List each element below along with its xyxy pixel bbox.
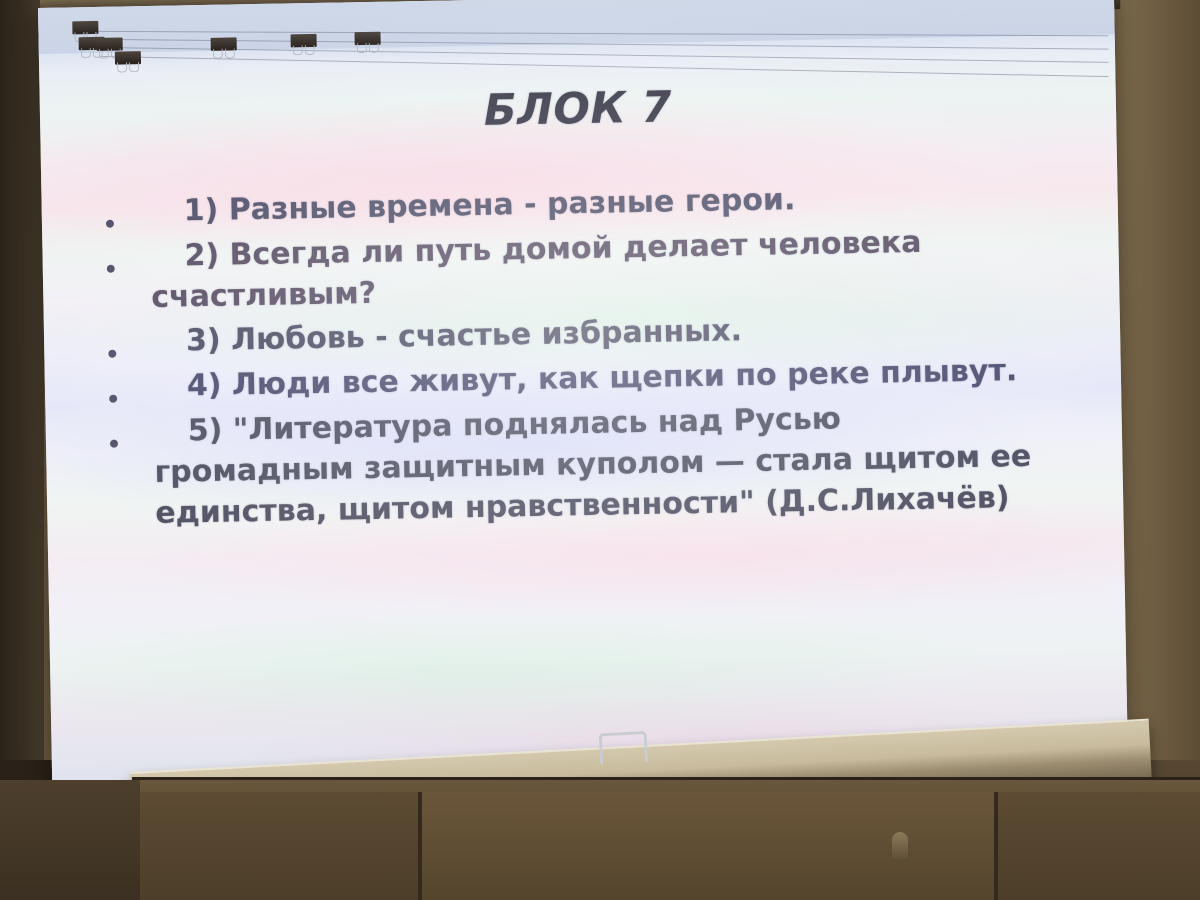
bullet-dot-icon	[106, 237, 151, 277]
bullet-dot-icon	[109, 412, 154, 452]
list-item: 5) "Литература поднялась над Русью грома…	[109, 396, 1033, 535]
cabinet-door[interactable]	[420, 792, 996, 900]
cabinet-door[interactable]	[132, 792, 420, 900]
slide-title: БЛОК 7	[40, 74, 1117, 144]
cabinet-handle-icon[interactable]	[892, 832, 908, 862]
classroom-photo-scene: БЛОК 7 1) Разные времена - разные герои.…	[0, 0, 1200, 900]
bullet-dot-icon	[108, 322, 153, 362]
screen-pull-handle-icon[interactable]	[599, 731, 649, 764]
slide-content: БЛОК 7 1) Разные времена - разные герои.…	[38, 0, 1128, 808]
cabinet-left-side	[0, 780, 140, 900]
projected-slide-surface: БЛОК 7 1) Разные времена - разные герои.…	[38, 0, 1128, 808]
bullet-dot-icon	[109, 367, 154, 407]
bullet-text: 2) Всегда ли путь домой делает человека …	[150, 221, 1029, 319]
slide-bullet-list: 1) Разные времена - разные герои. 2) Все…	[105, 176, 1033, 539]
list-item: 2) Всегда ли путь домой делает человека …	[106, 221, 1029, 319]
bullet-dot-icon	[105, 192, 150, 232]
cabinet-door[interactable]	[996, 792, 1200, 900]
cabinet	[132, 777, 1200, 900]
projection-screen: БЛОК 7 1) Разные времена - разные герои.…	[38, 0, 1128, 808]
bullet-text: 5) "Литература поднялась над Русью грома…	[153, 396, 1033, 534]
